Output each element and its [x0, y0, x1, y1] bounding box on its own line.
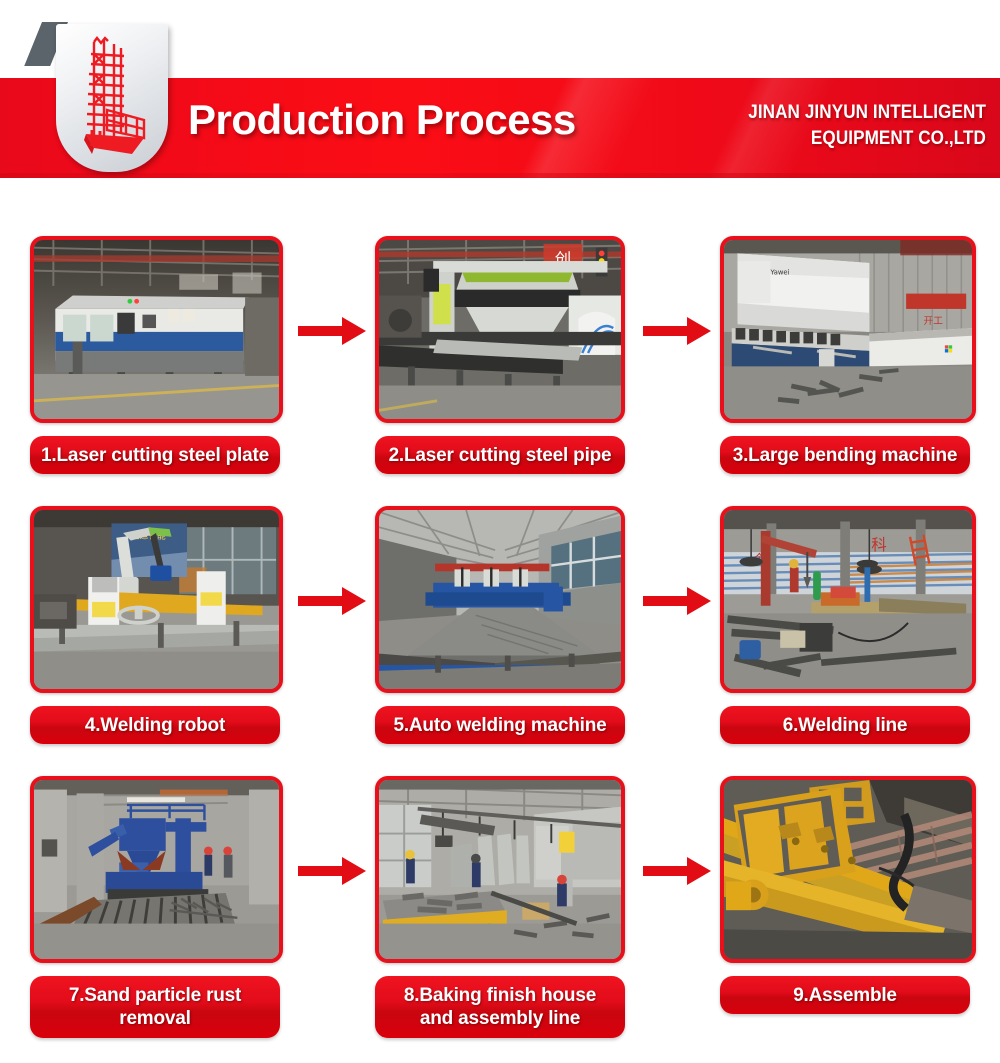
step-label-8: 8.Baking finish house and assembly line	[375, 976, 625, 1038]
step-label-9: 9.Assemble	[720, 976, 970, 1014]
step-label-text-5: 5.Auto welding machine	[393, 714, 606, 737]
process-row-3: 7.Sand particle rust removal	[0, 776, 1000, 1061]
step-photo-9	[720, 776, 976, 963]
step-label-1: 1.Laser cutting steel plate	[30, 436, 280, 474]
step-card-6[interactable]: 科 企	[720, 506, 986, 744]
step-label-text-8: 8.Baking finish house and assembly line	[404, 984, 596, 1030]
step-card-2[interactable]: 创	[375, 236, 641, 474]
page-header: Production Process JINAN JINYUN INTELLIG…	[0, 0, 1000, 185]
step-label-6: 6.Welding line	[720, 706, 970, 744]
step-label-text-3: 3.Large bending machine	[733, 444, 958, 467]
step-photo-5	[375, 506, 625, 693]
step-photo-7	[30, 776, 283, 963]
step-label-3: 3.Large bending machine	[720, 436, 970, 474]
step-label-text-1: 1.Laser cutting steel plate	[41, 444, 269, 467]
step-label-text-6: 6.Welding line	[783, 714, 908, 737]
step-label-5: 5.Auto welding machine	[375, 706, 625, 744]
step-card-5[interactable]: 5.Auto welding machine	[375, 506, 641, 744]
process-row-2: 金运智能	[0, 506, 1000, 776]
process-row-1: 1.Laser cutting steel plate	[0, 236, 1000, 506]
step-card-7[interactable]: 7.Sand particle rust removal	[30, 776, 296, 1038]
step-card-8[interactable]: 8.Baking finish house and assembly line	[375, 776, 641, 1038]
step-label-text-4: 4.Welding robot	[85, 714, 225, 737]
step-photo-6: 科 企	[720, 506, 976, 693]
step-label-4: 4.Welding robot	[30, 706, 280, 744]
company-name-line2: EQUIPMENT CO.,LTD	[689, 126, 986, 152]
step-card-9[interactable]: 9.Assemble	[720, 776, 986, 1014]
step-label-text-2: 2.Laser cutting steel pipe	[389, 444, 612, 467]
company-name: JINAN JINYUN INTELLIGENT EQUIPMENT CO.,L…	[689, 100, 986, 152]
page-title: Production Process	[188, 96, 576, 144]
step-card-4[interactable]: 金运智能	[30, 506, 296, 744]
step-label-7: 7.Sand particle rust removal	[30, 976, 280, 1038]
step-photo-8	[375, 776, 625, 963]
arrow-2-to-3	[643, 316, 711, 346]
step-label-text-9: 9.Assemble	[793, 984, 897, 1007]
arrow-1-to-2	[298, 316, 366, 346]
process-steps-grid: 1.Laser cutting steel plate	[0, 236, 1000, 1061]
company-name-line1: JINAN JINYUN INTELLIGENT	[689, 100, 986, 126]
step-photo-3: 开工 Yawei	[720, 236, 976, 423]
step-photo-4: 金运智能	[30, 506, 283, 693]
lift-mast-icon	[74, 34, 152, 164]
svg-text:Yawei: Yawei	[769, 268, 789, 276]
arrow-5-to-6	[643, 586, 711, 616]
step-label-text-7: 7.Sand particle rust removal	[69, 984, 241, 1030]
arrow-7-to-8	[298, 856, 366, 886]
step-card-3[interactable]: 开工 Yawei	[720, 236, 986, 474]
production-process-page: Production Process JINAN JINYUN INTELLIG…	[0, 0, 1000, 1063]
company-logo	[56, 24, 168, 172]
step-label-2: 2.Laser cutting steel pipe	[375, 436, 625, 474]
svg-text:科: 科	[871, 536, 886, 554]
step-photo-1	[30, 236, 283, 423]
arrow-4-to-5	[298, 586, 366, 616]
step-card-1[interactable]: 1.Laser cutting steel plate	[30, 236, 296, 474]
arrow-8-to-9	[643, 856, 711, 886]
svg-text:开工: 开工	[924, 316, 944, 327]
step-photo-2: 创	[375, 236, 625, 423]
